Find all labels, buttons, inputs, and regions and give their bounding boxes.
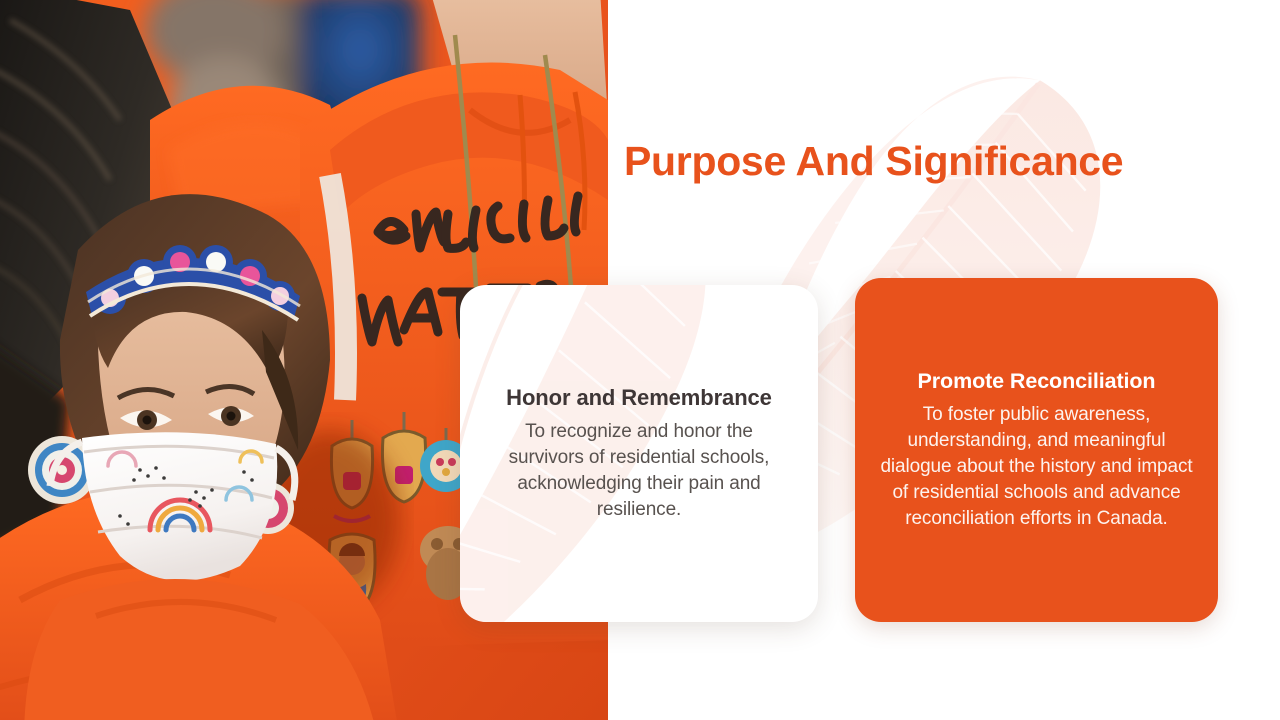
slide: Purpose And Significance Honor and Remem… [0,0,1280,720]
card-content: Honor and Remembrance To recognize and h… [488,384,790,524]
card-title: Honor and Remembrance [488,384,790,412]
card-promote-reconciliation[interactable]: Promote Reconciliation To foster public … [855,278,1218,622]
card-honor-and-remembrance[interactable]: Honor and Remembrance To recognize and h… [460,285,818,622]
card-body: To recognize and honor the survivors of … [488,419,790,523]
card-title: Promote Reconciliation [879,368,1194,395]
page-title: Purpose And Significance [624,139,1123,185]
card-body: To foster public awareness, understandin… [879,402,1194,532]
card-content: Promote Reconciliation To foster public … [879,368,1194,532]
